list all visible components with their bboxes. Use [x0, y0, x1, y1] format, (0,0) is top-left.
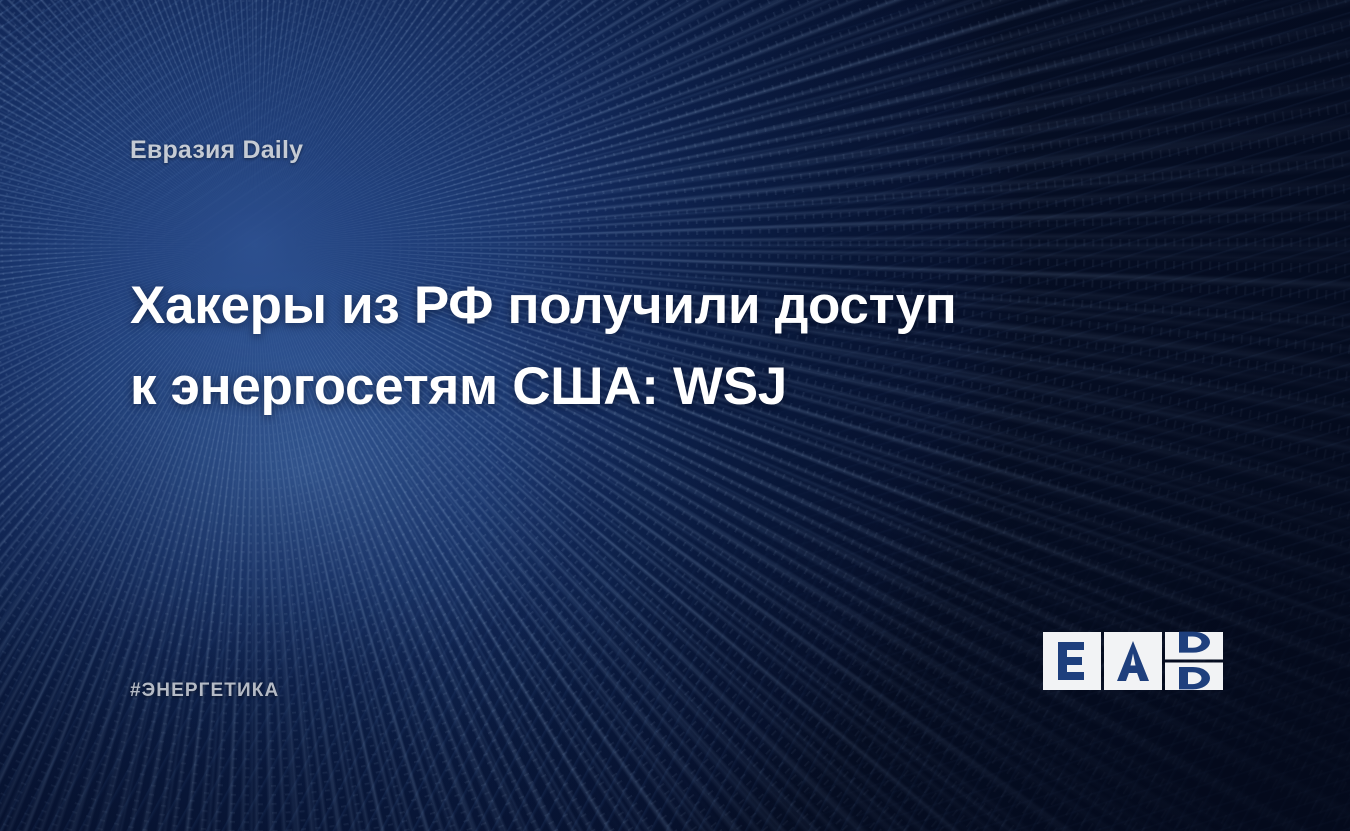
background-rings [0, 0, 1350, 831]
news-share-card: Евразия Daily Хакеры из РФ получили дост… [0, 0, 1350, 831]
